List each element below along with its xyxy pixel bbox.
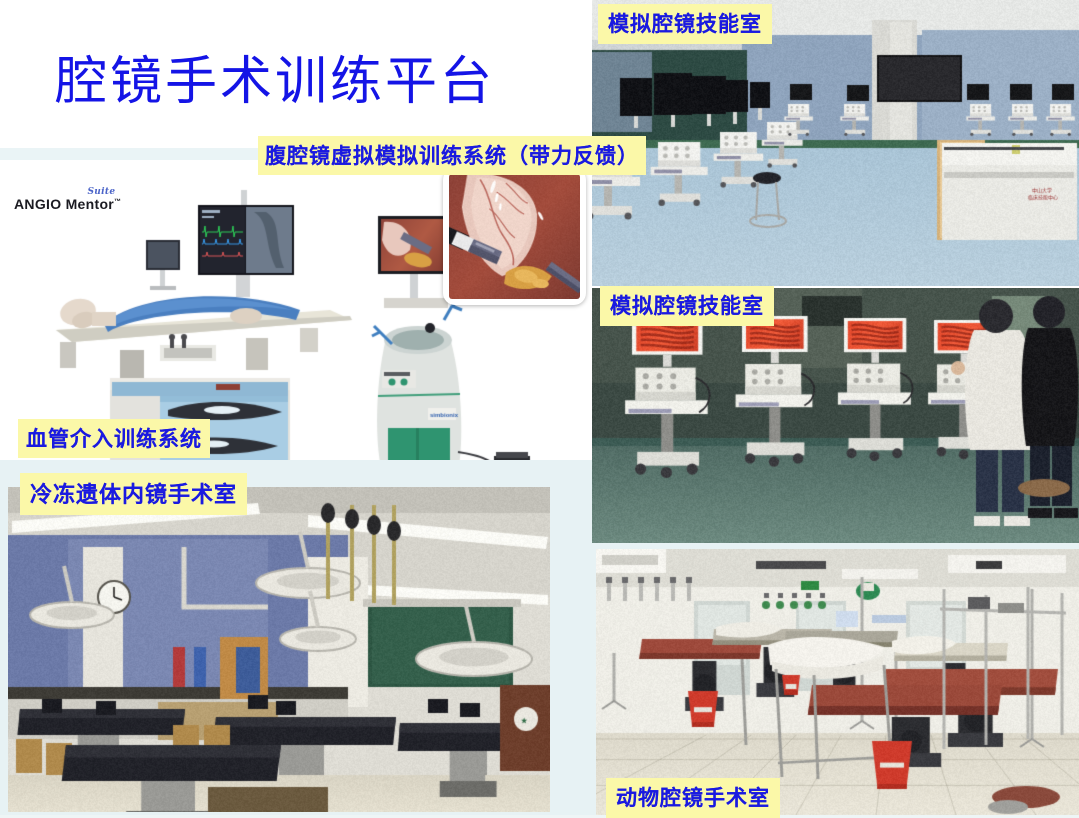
angio-mentor-brand: ANGIO Mentor (14, 196, 114, 212)
angio-mentor-suite: Suite (88, 187, 116, 197)
page-title: 腔镜手术训练平台 (55, 56, 495, 108)
label-animal-operating-room: 动物腔镜手术室 (606, 778, 780, 818)
photo-sim-skills-lab-students (592, 288, 1079, 543)
laparoscopic-view-inset (443, 168, 586, 305)
label-sim-skills-room-top: 模拟腔镜技能室 (598, 4, 772, 44)
slide-canvas: 腔镜手术训练平台 ANGIO Mentor™ Suite 腹腔镜虚拟模拟训练系统… (0, 0, 1079, 815)
angio-mentor-logo: ANGIO Mentor™ Suite (14, 196, 121, 212)
label-laparoscopic-vr-system: 腹腔镜虚拟模拟训练系统（带力反馈） (258, 136, 646, 175)
photo-cryo-operating-room (8, 487, 550, 812)
trademark-icon: ™ (114, 198, 121, 205)
label-sim-skills-room-mid: 模拟腔镜技能室 (600, 286, 774, 326)
label-vascular-training-system: 血管介入训练系统 (18, 419, 210, 458)
photo-animal-operating-room (596, 549, 1079, 815)
label-cryo-operating-room: 冷冻遗体内镜手术室 (20, 473, 247, 515)
